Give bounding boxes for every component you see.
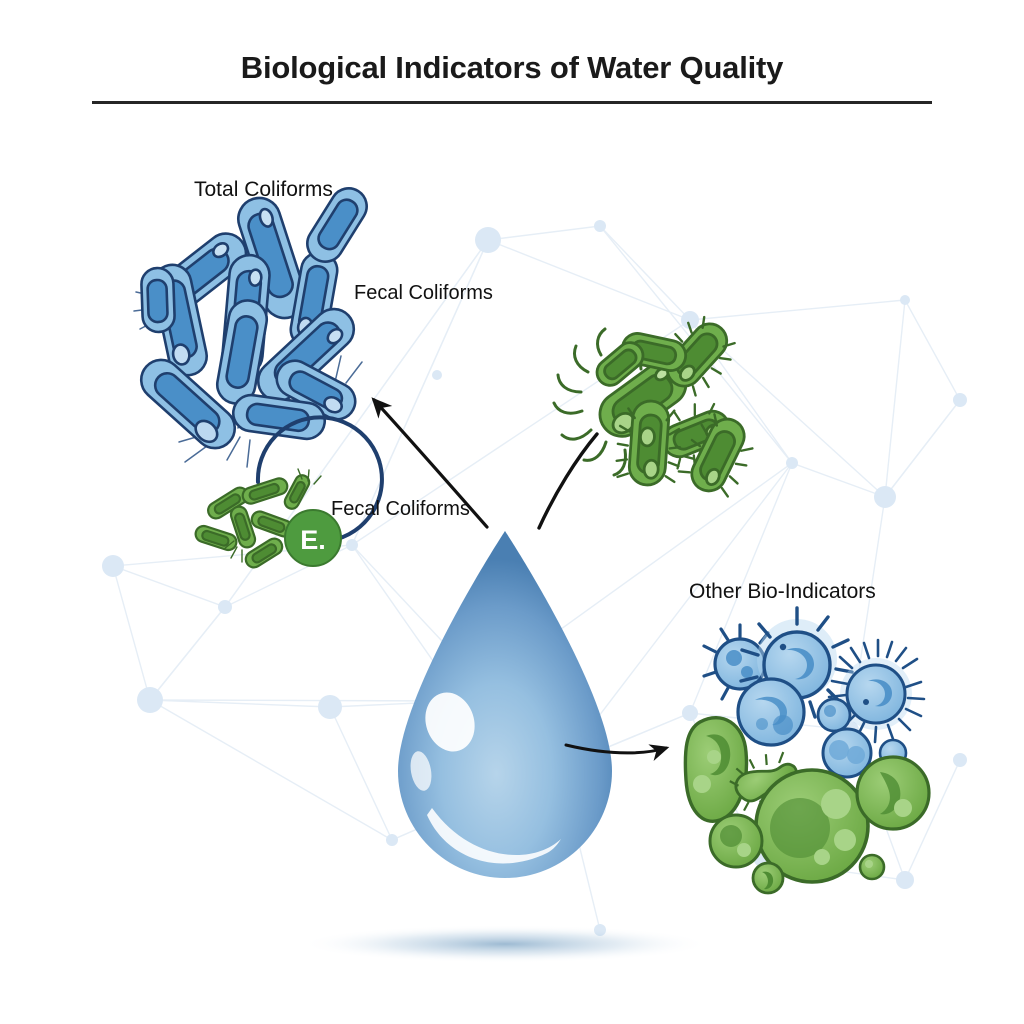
page-title: Biological Indicators of Water Quality	[0, 50, 1024, 86]
label-other-bio-indicators: Other Bio-Indicators	[689, 580, 876, 604]
illustration-layer: E.	[0, 0, 1024, 1024]
ecoli-badge-text: E.	[300, 525, 326, 555]
blue-cell-mid	[738, 679, 804, 745]
droplet-shadow	[300, 925, 710, 963]
blue-bacteria-cluster	[133, 182, 373, 467]
arrow-to-fecal-coliforms	[539, 434, 597, 528]
green-cell-tiny-right	[860, 855, 884, 879]
label-fecal-coliforms-bottom: Fecal Coliforms	[331, 498, 470, 521]
blue-cell-tiny-1	[818, 699, 850, 731]
other-bio-indicators-cluster	[685, 608, 929, 893]
water-droplet	[398, 531, 612, 878]
label-total-coliforms: Total Coliforms	[194, 178, 333, 202]
green-cell-small-left	[710, 815, 762, 867]
green-bacteria-cluster	[554, 308, 762, 502]
green-cell-right	[857, 757, 929, 829]
infographic-canvas: E.	[0, 0, 1024, 1024]
title-divider	[92, 101, 932, 104]
green-cell-tiny-bottom	[753, 863, 783, 893]
label-fecal-coliforms-top: Fecal Coliforms	[354, 282, 493, 305]
